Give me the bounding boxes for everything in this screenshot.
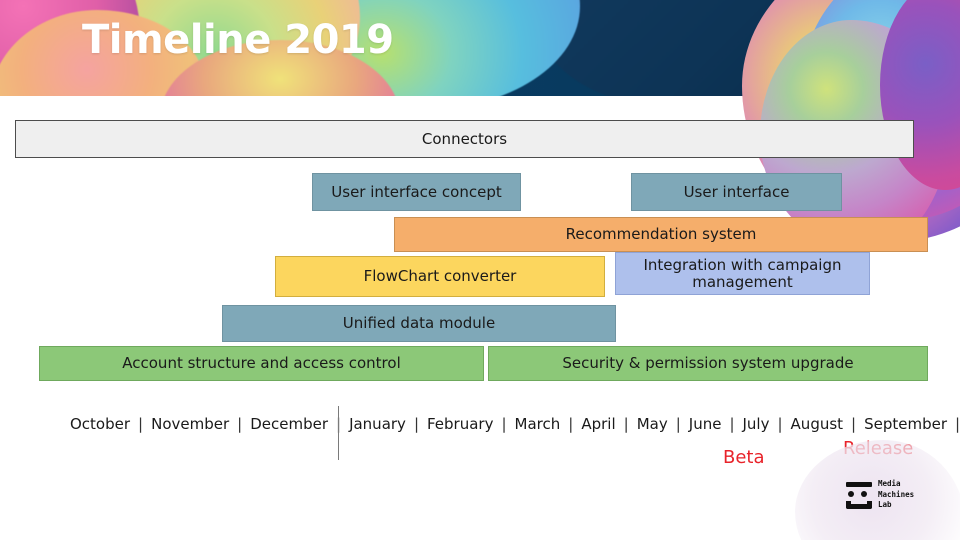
month-label: April (574, 415, 622, 433)
milestone-beta: Beta (723, 447, 765, 468)
gantt-bar-label: FlowChart converter (364, 268, 517, 285)
gantt-bar-label: Account structure and access control (122, 355, 400, 372)
month-label: January (342, 415, 413, 433)
gantt-bar-label: User interface (684, 184, 790, 201)
month-separator: | (623, 415, 630, 433)
month-separator: | (567, 415, 574, 433)
month-label: August (784, 415, 851, 433)
month-label: July (736, 415, 777, 433)
month-separator: | (137, 415, 144, 433)
gantt-bar[interactable]: User interface concept (312, 173, 521, 211)
month-separator: | (236, 415, 243, 433)
gantt-bar-label: Unified data module (343, 315, 495, 332)
gantt-bar[interactable]: Account structure and access control (39, 346, 484, 381)
month-separator: | (728, 415, 735, 433)
month-separator: | (850, 415, 857, 433)
month-separator: | (675, 415, 682, 433)
logo-text: Media Machines Lab (878, 479, 914, 511)
gantt-bar[interactable]: Connectors (15, 120, 914, 158)
gantt-bar-label: User interface concept (331, 184, 501, 201)
month-label: February (420, 415, 500, 433)
gantt-bar[interactable]: User interface (631, 173, 842, 211)
gantt-bar[interactable]: FlowChart converter (275, 256, 605, 297)
robot-face-icon (845, 480, 873, 510)
month-label: October (63, 415, 137, 433)
page-title: Timeline 2019 (82, 17, 394, 63)
gantt-bar-label: Recommendation system (566, 226, 757, 243)
month-separator: | (500, 415, 507, 433)
month-label: November (144, 415, 236, 433)
gantt-bar[interactable]: Recommendation system (394, 217, 928, 252)
month-label: September (857, 415, 954, 433)
gantt-bar[interactable]: Integration with campaign management (615, 252, 870, 295)
month-separator: | (413, 415, 420, 433)
month-label: June (682, 415, 729, 433)
gantt-bar-label: Connectors (422, 131, 507, 148)
slide-canvas: Timeline 2019 ConnectorsUser interface c… (0, 0, 960, 540)
logo-line-2: Machines (878, 490, 914, 501)
logo-line-3: Lab (878, 500, 914, 511)
gantt-bar-label: Security & permission system upgrade (562, 355, 853, 372)
month-axis: October|November|December|January|Februa… (63, 410, 960, 438)
gantt-bar[interactable]: Unified data module (222, 305, 616, 342)
month-separator: | (954, 415, 960, 433)
gantt-bar-label: Integration with campaign management (622, 257, 863, 291)
gantt-bar[interactable]: Security & permission system upgrade (488, 346, 928, 381)
year-divider (338, 406, 339, 460)
month-label: March (508, 415, 568, 433)
logo: Media Machines Lab (845, 479, 914, 511)
month-label: December (243, 415, 335, 433)
month-label: May (630, 415, 675, 433)
month-separator: | (776, 415, 783, 433)
logo-line-1: Media (878, 479, 914, 490)
